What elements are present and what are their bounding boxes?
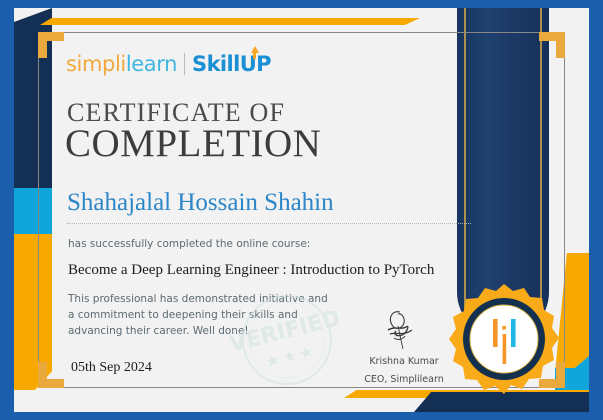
logo-text-skill: SkillUP xyxy=(192,52,271,76)
logo-arrow-stem xyxy=(253,52,256,59)
verification-seal xyxy=(446,282,562,398)
seal-badge-icon xyxy=(446,282,562,398)
frame-corner-bottom-left xyxy=(38,362,64,388)
frame-corner-top-left xyxy=(38,32,64,58)
simplilearn-skillup-logo: simpl i learn SkillUP xyxy=(66,52,271,76)
completion-subtitle: has successfully completed the online co… xyxy=(68,238,310,250)
logo-divider xyxy=(184,53,185,75)
recipient-name: Shahajalal Hossain Shahin xyxy=(67,189,334,217)
issue-date: 05th Sep 2024 xyxy=(71,360,152,376)
signature-icon xyxy=(374,308,434,354)
certificate-paper: simpl i learn SkillUP CERTIFICATE OF COM… xyxy=(14,8,589,412)
logo-text-simpl: simpl xyxy=(66,52,120,76)
logo-text-learn: learn xyxy=(126,52,177,76)
certificate-canvas: simpl i learn SkillUP CERTIFICATE OF COM… xyxy=(0,0,603,420)
frame-corner-top-right xyxy=(539,32,565,58)
logo-skill-word: Skill xyxy=(192,52,240,76)
up-arrow-icon xyxy=(251,46,259,53)
course-title: Become a Deep Learning Engineer : Introd… xyxy=(68,262,434,279)
recipient-name-rule xyxy=(67,223,471,224)
top-gold-band xyxy=(40,18,420,25)
certificate-heading-line2: COMPLETION xyxy=(65,121,321,166)
